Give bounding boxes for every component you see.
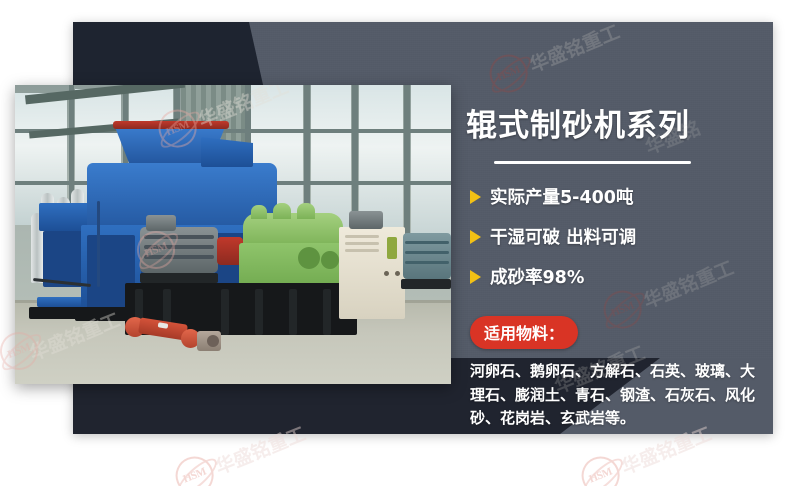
list-item: 实际产量5-400吨	[462, 184, 773, 209]
hsm-seal-icon: HSM	[576, 451, 625, 486]
arrow-right-icon	[470, 270, 481, 284]
feature-text: 成砂率98%	[490, 264, 584, 289]
motor-mount	[140, 273, 218, 283]
gearbox-hump	[273, 203, 291, 219]
hero-content: 辊式制砂机系列 实际产量5-400吨 干湿可破 出料可调 成砂率98% 适用物料…	[462, 22, 773, 434]
gearbox-hump	[251, 205, 267, 219]
cabinet-knob	[395, 271, 400, 276]
skid-rib	[255, 289, 263, 335]
window-mullion	[404, 85, 410, 245]
feature-list: 实际产量5-400吨 干湿可破 出料可调 成砂率98%	[462, 184, 773, 289]
cabinet-louver	[345, 242, 379, 245]
motor-fin	[405, 241, 449, 244]
materials-text: 河卵石、鹅卵石、方解石、石英、玻璃、大理石、膨润土、青石、钢渣、石灰石、风化砂、…	[470, 360, 760, 431]
gearbox-inspection-port	[321, 251, 339, 269]
arrow-right-icon	[470, 230, 481, 244]
secondary-motor-base	[401, 279, 451, 289]
cabinet-indicator	[387, 237, 397, 259]
drive-shaft-bore	[207, 335, 219, 347]
page-canvas: HSM 华盛铭重工 HSM 华盛铭重工 辊式制砂机系列 实际产量5-400吨	[0, 0, 800, 486]
hydraulic-line	[97, 201, 100, 287]
motor-fin	[405, 251, 449, 254]
list-item: 干湿可破 出料可调	[462, 224, 773, 249]
cabinet-louver	[345, 249, 379, 252]
page-title: 辊式制砂机系列	[462, 22, 773, 145]
list-item: 成砂率98%	[462, 264, 773, 289]
hsm-seal-icon: HSM	[170, 451, 219, 486]
window-pane	[411, 85, 451, 243]
cabinet-top-box	[349, 211, 383, 229]
skid-rib	[289, 289, 297, 335]
motor-fin	[405, 261, 449, 264]
arrow-right-icon	[470, 190, 481, 204]
skid-rib	[221, 289, 229, 335]
product-photo: HSM 华盛铭重工 HSM 华盛铭重工	[15, 85, 451, 384]
feature-text: 干湿可破 出料可调	[490, 224, 636, 249]
title-underline	[494, 161, 691, 164]
feature-text: 实际产量5-400吨	[490, 184, 633, 209]
cabinet-knob	[384, 271, 389, 276]
materials-badge: 适用物料：	[470, 316, 578, 349]
gearbox-inspection-port	[298, 247, 320, 269]
secondary-motor	[403, 233, 451, 279]
cabinet-louver	[345, 235, 379, 238]
gearbox-hump	[297, 203, 315, 219]
skid-rib	[323, 289, 331, 335]
